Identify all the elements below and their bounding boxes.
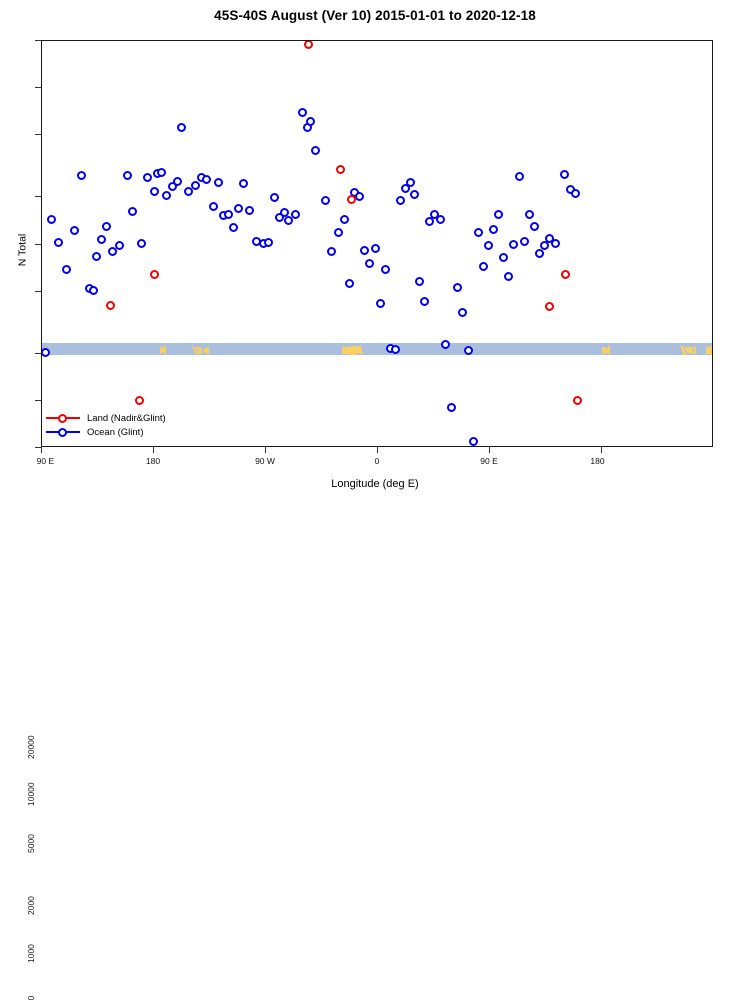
legend-marker-ocean (46, 428, 80, 437)
data-point-land (150, 270, 159, 279)
legend-marker-land (46, 414, 80, 423)
data-point-ocean (396, 196, 405, 205)
data-point-ocean (474, 228, 483, 237)
data-point-ocean (202, 175, 211, 184)
data-point-ocean (102, 222, 111, 231)
data-point-land (106, 301, 115, 310)
data-point-ocean (214, 178, 223, 187)
chart-title: 45S-40S August (Ver 10) 2015-01-01 to 20… (0, 8, 750, 23)
data-point-ocean (123, 171, 132, 180)
data-point-ocean (535, 249, 544, 258)
coast-mark (207, 347, 209, 354)
data-point-ocean (224, 210, 233, 219)
data-point-ocean (360, 246, 369, 255)
x-tick (265, 447, 266, 453)
y-tick-label: 20000 (26, 40, 36, 759)
data-point-land (561, 270, 570, 279)
data-point-ocean (47, 215, 56, 224)
legend-circle-icon (58, 414, 67, 423)
data-point-ocean (441, 340, 450, 349)
legend-label: Ocean (Glint) (87, 427, 144, 438)
data-point-ocean (234, 204, 243, 213)
data-point-ocean (458, 308, 467, 317)
x-tick-label: 90 W (255, 456, 275, 466)
data-point-ocean (489, 225, 498, 234)
data-point-ocean (355, 192, 364, 201)
data-point-ocean (365, 259, 374, 268)
x-tick (601, 447, 602, 453)
x-axis-title: Longitude (deg E) (0, 478, 750, 490)
x-tick-label: 180 (146, 456, 160, 466)
data-point-ocean (560, 170, 569, 179)
data-point-ocean (420, 297, 429, 306)
data-point-ocean (520, 237, 529, 246)
legend-label: Land (Nadir&Glint) (87, 413, 166, 424)
data-point-ocean (551, 239, 560, 248)
x-tick (41, 447, 42, 453)
data-point-ocean (376, 299, 385, 308)
data-point-ocean (479, 262, 488, 271)
data-point-ocean (41, 348, 50, 357)
data-point-ocean (173, 177, 182, 186)
data-point-ocean (540, 241, 549, 250)
data-point-ocean (229, 223, 238, 232)
x-tick (153, 447, 154, 453)
data-point-ocean (515, 172, 524, 181)
data-point-land (347, 195, 356, 204)
legend-item[interactable]: Land (Nadir&Glint) (46, 411, 166, 425)
data-point-ocean (62, 265, 71, 274)
data-point-land (135, 396, 144, 405)
x-tick-label: 90 E (37, 456, 55, 466)
x-tick (489, 447, 490, 453)
data-point-ocean (239, 179, 248, 188)
coast-mark (710, 346, 713, 355)
data-point-land (304, 40, 313, 49)
legend: Land (Nadir&Glint)Ocean (Glint) (46, 411, 166, 439)
data-point-ocean (177, 123, 186, 132)
data-point-ocean (499, 253, 508, 262)
x-tick-label: 180 (590, 456, 604, 466)
x-tick-label: 90 E (480, 456, 498, 466)
data-point-ocean (298, 108, 307, 117)
data-point-ocean (162, 191, 171, 200)
data-point-ocean (270, 193, 279, 202)
data-point-ocean (340, 215, 349, 224)
data-point-ocean (137, 239, 146, 248)
data-point-ocean (92, 252, 101, 261)
data-point-ocean (371, 244, 380, 253)
data-point-ocean (447, 403, 456, 412)
data-point-ocean (306, 117, 315, 126)
data-point-ocean (381, 265, 390, 274)
data-point-ocean (509, 240, 518, 249)
band-rect (42, 343, 712, 355)
data-point-ocean (264, 238, 273, 247)
data-point-ocean (157, 168, 166, 177)
legend-item[interactable]: Ocean (Glint) (46, 425, 166, 439)
data-point-ocean (327, 247, 336, 256)
data-point-ocean (70, 226, 79, 235)
data-point-ocean (525, 210, 534, 219)
data-point-ocean (97, 235, 106, 244)
data-point-ocean (453, 283, 462, 292)
data-point-ocean (469, 437, 478, 446)
legend-circle-icon (58, 428, 67, 437)
data-point-ocean (494, 210, 503, 219)
data-point-ocean (530, 222, 539, 231)
data-point-ocean (54, 238, 63, 247)
data-point-ocean (321, 196, 330, 205)
x-tick (377, 447, 378, 453)
coast-mark (164, 346, 166, 354)
figure-root: 45S-40S August (Ver 10) 2015-01-01 to 20… (0, 0, 750, 500)
data-point-land (336, 165, 345, 174)
data-point-ocean (143, 173, 152, 182)
coast-mark (608, 346, 610, 354)
data-point-ocean (504, 272, 513, 281)
data-point-ocean (436, 215, 445, 224)
data-point-ocean (571, 189, 580, 198)
data-point-ocean (484, 241, 493, 250)
data-point-ocean (334, 228, 343, 237)
data-point-ocean (406, 178, 415, 187)
data-point-ocean (415, 277, 424, 286)
data-point-ocean (191, 181, 200, 190)
x-tick-label: 0 (375, 456, 380, 466)
data-point-ocean (209, 202, 218, 211)
data-point-ocean (128, 207, 137, 216)
data-point-ocean (77, 171, 86, 180)
data-point-ocean (410, 190, 419, 199)
data-point-ocean (89, 286, 98, 295)
data-point-ocean (150, 187, 159, 196)
data-point-ocean (291, 210, 300, 219)
plot-area (41, 40, 713, 447)
data-point-land (545, 302, 554, 311)
data-point-land (573, 396, 582, 405)
data-point-ocean (345, 279, 354, 288)
data-point-ocean (115, 241, 124, 250)
data-point-ocean (311, 146, 320, 155)
data-point-ocean (245, 206, 254, 215)
